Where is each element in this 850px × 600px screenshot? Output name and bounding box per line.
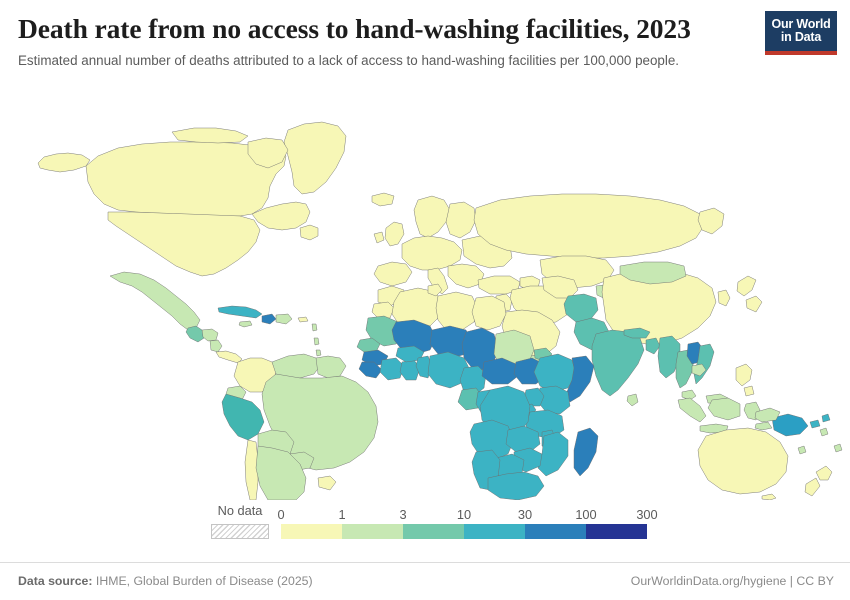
country-libya[interactable] [436, 292, 478, 330]
country-south-africa[interactable] [488, 472, 544, 500]
country-guyanas[interactable] [316, 356, 346, 378]
chart-header: Death rate from no access to hand-washin… [0, 0, 850, 70]
footer-link[interactable]: OurWorldinData.org/hygiene | CC BY [631, 574, 834, 588]
legend-tick-6: 300 [636, 509, 657, 522]
country-puerto-rico[interactable] [298, 317, 308, 322]
legend-tick-4: 30 [518, 509, 532, 522]
legend-bins[interactable] [281, 524, 647, 539]
country-pacific-islands[interactable] [798, 428, 842, 454]
legend-bin-5[interactable] [586, 524, 647, 539]
country-arctic-islands[interactable] [172, 128, 248, 143]
country-scandinavia[interactable] [414, 196, 450, 238]
country-peru[interactable] [222, 394, 264, 440]
country-japan[interactable] [737, 276, 762, 312]
owid-logo-line1: Our World [771, 18, 830, 32]
world-choropleth-map[interactable] [0, 100, 850, 500]
country-borneo[interactable] [708, 398, 740, 420]
country-kamchatka[interactable] [698, 208, 724, 234]
country-uruguay[interactable] [318, 476, 336, 490]
legend-bin-4[interactable] [525, 524, 586, 539]
data-source-label: Data source: [18, 574, 93, 588]
legend-tick-2: 3 [399, 509, 406, 522]
country-iberia[interactable] [374, 262, 412, 286]
country-timor-islands[interactable] [755, 422, 772, 430]
country-madagascar[interactable] [574, 428, 598, 476]
country-honduras[interactable] [202, 329, 218, 341]
country-new-zealand[interactable] [805, 466, 832, 496]
country-dominican-republic[interactable] [276, 314, 292, 324]
page-title: Death rate from no access to hand-washin… [18, 14, 832, 45]
country-sumatra[interactable] [678, 398, 706, 422]
country-tasmania[interactable] [762, 494, 776, 500]
legend-tick-5: 100 [575, 509, 596, 522]
country-nicaragua[interactable] [210, 340, 222, 352]
country-united-states[interactable] [108, 212, 260, 276]
owid-logo[interactable]: Our World in Data [765, 11, 837, 55]
country-guatemala[interactable] [186, 326, 204, 342]
legend-tick-0: 0 [277, 509, 284, 522]
country-philippines[interactable] [736, 364, 754, 396]
country-lesser-antilles[interactable] [312, 324, 321, 356]
chart-footer: Data source: IHME, Global Burden of Dise… [0, 562, 850, 600]
country-afghanistan[interactable] [564, 294, 598, 322]
country-egypt[interactable] [472, 296, 506, 330]
country-solomon-islands[interactable] [810, 414, 830, 428]
legend-tick-labels: 0 1 3 10 30 100 300 [281, 505, 647, 524]
world-map-container[interactable] [0, 100, 850, 500]
legend-no-data-label: No data [211, 505, 269, 518]
country-india[interactable] [592, 330, 644, 396]
country-kenya[interactable] [538, 386, 570, 414]
page-subtitle: Estimated annual number of deaths attrib… [18, 52, 803, 71]
country-alaska[interactable] [38, 153, 90, 172]
country-russia[interactable] [474, 194, 704, 258]
country-haiti[interactable] [262, 314, 276, 324]
legend-tick-1: 1 [338, 509, 345, 522]
map-legend: No data 0 1 3 10 30 100 300 [0, 505, 850, 555]
country-mexico[interactable] [110, 272, 200, 330]
legend-bin-3[interactable] [464, 524, 525, 539]
legend-color-scale[interactable]: 0 1 3 10 30 100 300 [281, 505, 647, 539]
legend-tick-3: 10 [457, 509, 471, 522]
data-source-text: IHME, Global Burden of Disease (2025) [96, 574, 313, 588]
country-western-sahara[interactable] [372, 302, 394, 318]
country-korea[interactable] [718, 290, 730, 306]
country-cuba[interactable] [218, 306, 262, 318]
country-western-europe[interactable] [402, 236, 462, 270]
country-costa-rica-panama[interactable] [216, 351, 242, 363]
owid-logo-line2: in Data [781, 31, 821, 45]
country-newfoundland[interactable] [300, 225, 318, 240]
country-finland-baltics[interactable] [446, 202, 476, 238]
country-iceland[interactable] [372, 193, 394, 206]
legend-bin-2[interactable] [403, 524, 464, 539]
country-jamaica[interactable] [239, 321, 252, 327]
legend-bin-1[interactable] [342, 524, 403, 539]
legend-no-data-swatch[interactable] [211, 524, 269, 539]
country-sri-lanka[interactable] [627, 394, 638, 406]
legend-bin-0[interactable] [281, 524, 342, 539]
country-greenland[interactable] [284, 122, 346, 194]
data-source: Data source: IHME, Global Burden of Dise… [18, 574, 313, 588]
legend-no-data[interactable]: No data [211, 505, 269, 539]
country-chile[interactable] [245, 440, 258, 500]
country-uk-ireland[interactable] [374, 222, 404, 246]
country-australia[interactable] [698, 428, 788, 494]
